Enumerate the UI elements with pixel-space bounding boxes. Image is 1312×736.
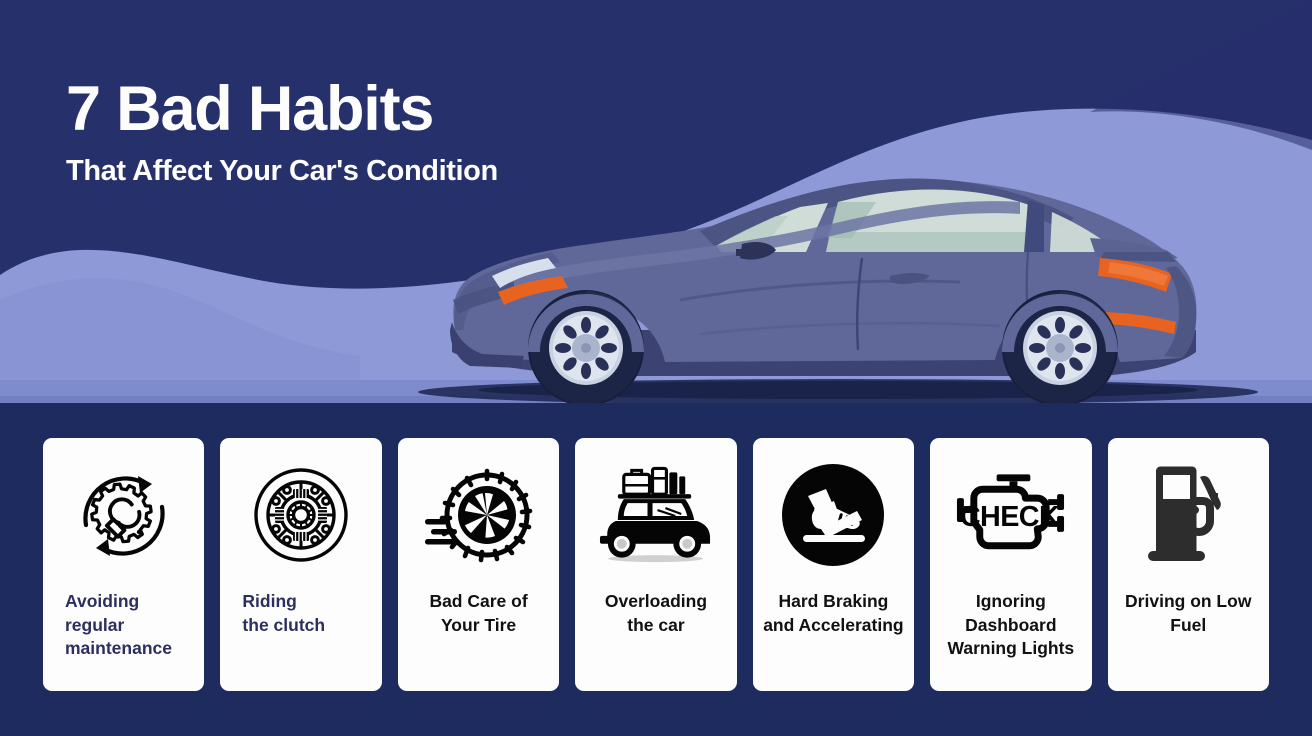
rear-wheel <box>1002 290 1118 403</box>
front-wheel <box>528 290 644 403</box>
habit-card-overloading-the-car[interactable]: Overloading the car <box>575 438 736 691</box>
habit-card-hard-braking-and-accelerating[interactable]: Hard Braking and Accelerating <box>753 438 914 691</box>
habit-card-label: Overloading the car <box>585 590 726 637</box>
habit-card-label: Ignoring Dashboard Warning Lights <box>940 590 1081 661</box>
habit-card-label: Avoiding regular maintenance <box>53 590 194 661</box>
habit-card-avoiding-regular-maintenance[interactable]: Avoiding regular maintenance <box>43 438 204 691</box>
habit-card-driving-on-low-fuel[interactable]: Driving on Low Fuel <box>1108 438 1269 691</box>
cards-section: Avoiding regular maintenance <box>0 403 1312 736</box>
habit-card-riding-the-clutch[interactable]: Riding the clutch <box>220 438 381 691</box>
clutch-disc-icon <box>244 460 359 570</box>
svg-text:CHECK: CHECK <box>960 501 1060 533</box>
habit-card-bad-care-of-your-tire[interactable]: Bad Care of Your Tire <box>398 438 559 691</box>
fuel-pump-icon <box>1131 460 1246 570</box>
hero-illustration-area: 7 Bad Habits That Affect Your Car's Cond… <box>0 0 1312 403</box>
habit-card-label: Riding the clutch <box>230 590 371 637</box>
foot-on-pedal-icon <box>776 460 891 570</box>
habit-card-list: Avoiding regular maintenance <box>43 438 1269 691</box>
infographic-poster: 7 Bad Habits That Affect Your Car's Cond… <box>0 0 1312 736</box>
habit-card-label: Bad Care of Your Tire <box>408 590 549 637</box>
habit-card-ignoring-dashboard-warning-lights[interactable]: CHECK Ignoring Dashboard Warning Lights <box>930 438 1091 691</box>
check-engine-light-icon: CHECK <box>953 460 1068 570</box>
spinning-tire-icon <box>421 460 536 570</box>
habit-card-label: Hard Braking and Accelerating <box>763 590 904 637</box>
car-illustration <box>0 0 1312 403</box>
habit-card-label: Driving on Low Fuel <box>1118 590 1259 637</box>
overloaded-car-luggage-icon <box>598 460 713 570</box>
gear-wrench-refresh-icon <box>66 460 181 570</box>
